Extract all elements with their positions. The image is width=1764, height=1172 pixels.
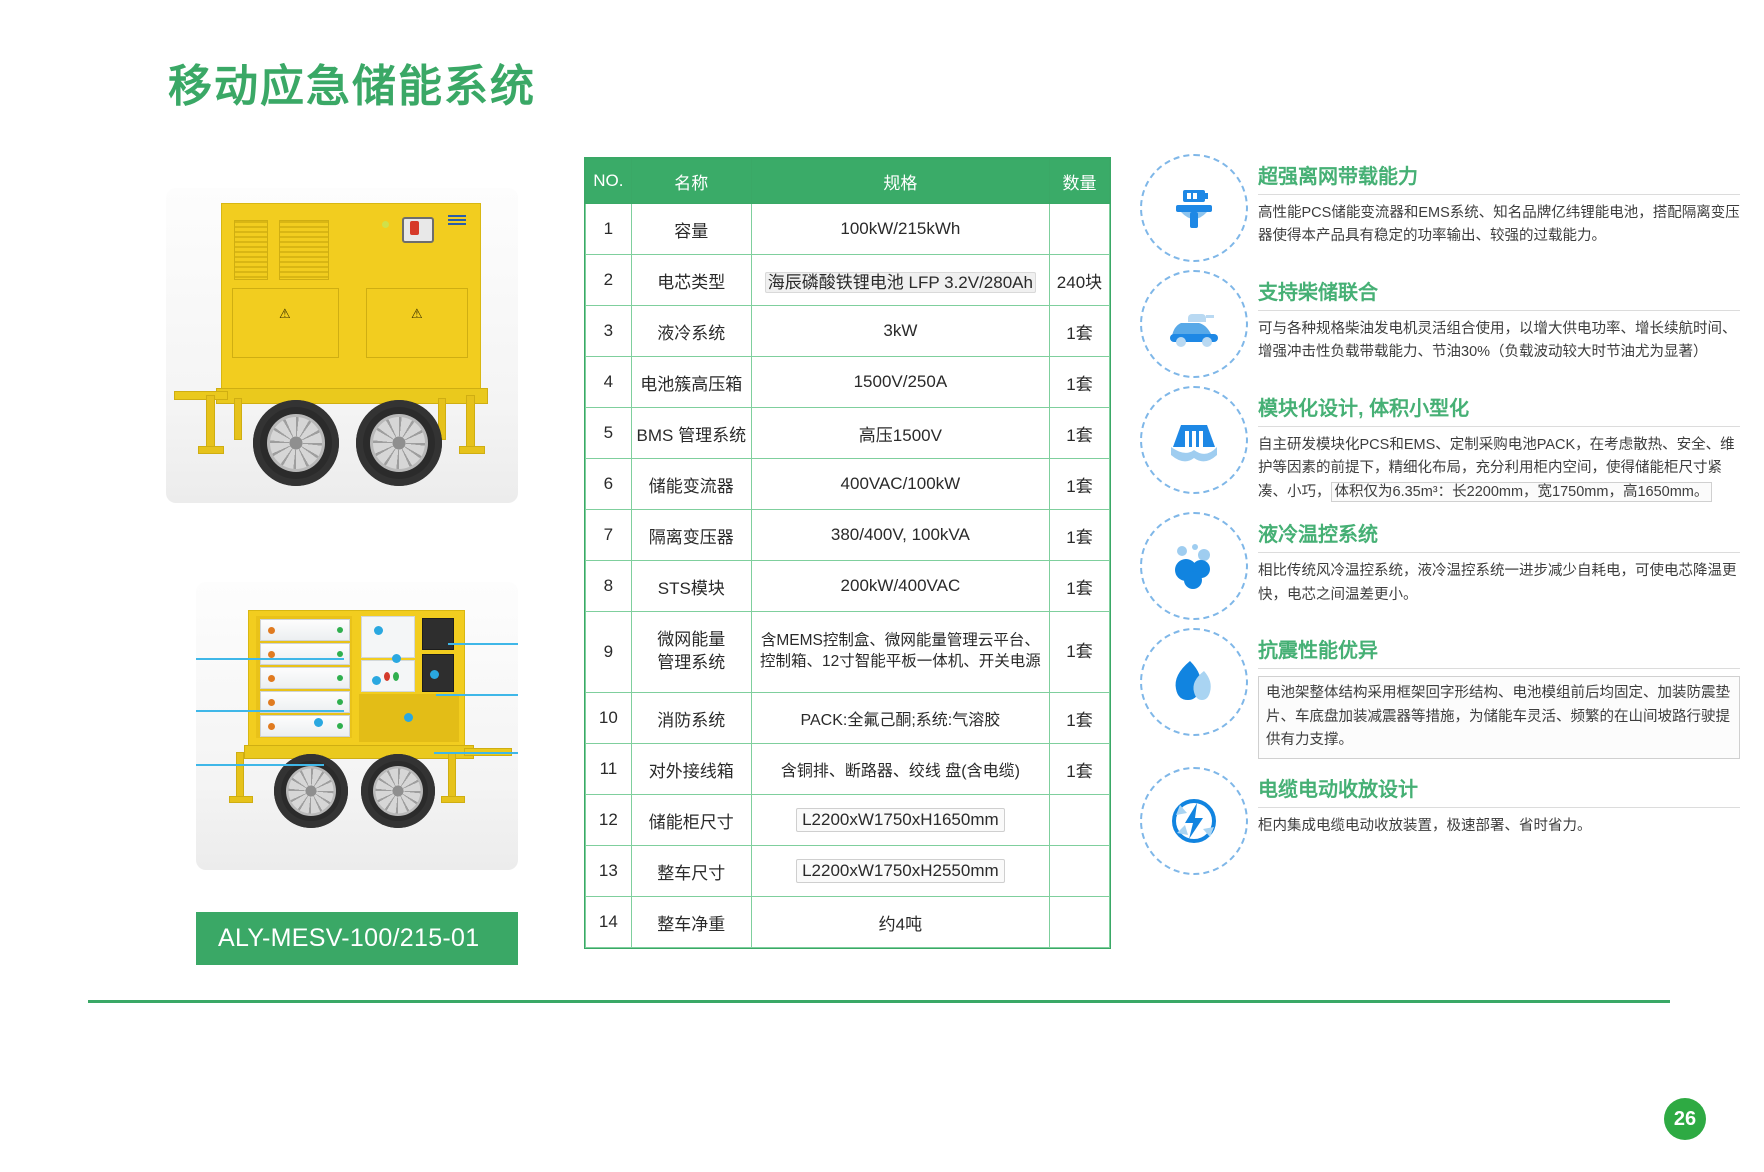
- table-row: 8 STS模块 200kW/400VAC 1套: [586, 561, 1110, 612]
- louver-right: [279, 220, 329, 280]
- table-header-row: NO. 名称 规格 数量: [586, 159, 1110, 204]
- support-leg: [206, 395, 215, 453]
- feature-title: 液冷温控系统: [1258, 518, 1740, 547]
- cell-name: 微网能量 管理系统: [631, 612, 751, 693]
- feature-body: 抗震性能优异 电池架整体结构采用框架回字形结构、电池模组前后均固定、加装防震垫片…: [1248, 626, 1740, 758]
- cell-name: 容量: [631, 204, 751, 255]
- feature-text: 可与各种规格柴油发电机灵活组合使用，以增大供电功率、增长续航时间、增强冲击性负载…: [1258, 318, 1740, 365]
- cell-spec: 高压1500V: [751, 408, 1049, 459]
- indicator-light: [382, 221, 389, 228]
- feature-text-highlight: 体积仅为6.35m³：长2200mm，宽1750mm，高1650mm。: [1331, 482, 1713, 502]
- pcs-cabinet-top: [422, 618, 454, 650]
- feature-text: 相比传统风冷温控系统，液冷温控系统一进步减少自耗电，可使电芯降温更快，电芯之间温…: [1258, 560, 1740, 607]
- cell-qty: 1套: [1049, 561, 1109, 612]
- feature-item-diesel-hybrid: 支持柴储联合 可与各种规格柴油发电机灵活组合使用，以增大供电功率、增长续航时间、…: [1140, 268, 1740, 378]
- cell-no: 14: [586, 897, 632, 948]
- feature-divider: [1258, 310, 1740, 311]
- table-row: 3 液冷系统 3kW 1套: [586, 306, 1110, 357]
- cell-name: 液冷系统: [631, 306, 751, 357]
- louver-left: [234, 220, 268, 280]
- feature-item-offgrid: 超强离网带载能力 高性能PCS储能变流器和EMS系统、知名品牌亿纬锂能电池，搭配…: [1140, 152, 1740, 262]
- wheel: [253, 400, 339, 486]
- callout-line: [196, 658, 344, 660]
- table-row: 11 对外接线箱 含铜排、断路器、绞线 盘(含电缆) 1套: [586, 744, 1110, 795]
- feature-list: 超强离网带载能力 高性能PCS储能变流器和EMS系统、知名品牌亿纬锂能电池，搭配…: [1140, 152, 1740, 881]
- cell-spec: PACK:全氟己酮;系统:气溶胶: [751, 693, 1049, 744]
- column-header-name: 名称: [631, 159, 751, 204]
- table-row: 6 储能变流器 400VAC/100kW 1套: [586, 459, 1110, 510]
- feature-text: 自主研发模块化PCS和EMS、定制采购电池PACK，在考虑散热、安全、维护等因素…: [1258, 434, 1740, 504]
- feature-divider: [1258, 668, 1740, 669]
- tow-bar: [174, 391, 228, 400]
- callout-dot: [372, 676, 381, 685]
- cell-spec: 约4吨: [751, 897, 1049, 948]
- cell-no: 13: [586, 846, 632, 897]
- footer-divider: [88, 1000, 1670, 1003]
- product-photo-open: [196, 582, 518, 870]
- cell-spec: 含MEMS控制盒、微网能量管理云平台、控制箱、12寸智能平板一体机、开关电源: [751, 612, 1049, 693]
- cell-qty: 240块: [1049, 255, 1109, 306]
- cell-spec-text: 海辰磷酸铁锂电池 LFP 3.2V/280Ah: [765, 272, 1036, 293]
- cell-qty: 1套: [1049, 306, 1109, 357]
- callout-dot: [392, 654, 401, 663]
- slide-page: 移动应急储能系统 ⚠ ⚠: [0, 0, 1764, 1172]
- feature-divider: [1258, 194, 1740, 195]
- cell-qty: 1套: [1049, 612, 1109, 693]
- feature-item-shock-resistance: 抗震性能优异 电池架整体结构采用框架回字形结构、电池模组前后均固定、加装防震垫片…: [1140, 626, 1740, 758]
- cable-reel-bolt-icon: [1140, 767, 1248, 875]
- cell-spec-text: L2200xW1750xH2550mm: [796, 859, 1005, 883]
- wheel: [356, 400, 442, 486]
- feature-body: 超强离网带载能力 高性能PCS储能变流器和EMS系统、知名品牌亿纬锂能电池，搭配…: [1248, 152, 1740, 249]
- cell-no: 1: [586, 204, 632, 255]
- page-number-badge: 26: [1664, 1098, 1706, 1140]
- cell-name: 整车尺寸: [631, 846, 751, 897]
- cell-spec: 200kW/400VAC: [751, 561, 1049, 612]
- shock-resistance-leaf-icon: [1140, 628, 1248, 736]
- cell-qty: 1套: [1049, 408, 1109, 459]
- cell-qty: 1套: [1049, 459, 1109, 510]
- cell-name: 储能变流器: [631, 459, 751, 510]
- feature-title: 抗震性能优异: [1258, 634, 1740, 663]
- callout-line: [196, 764, 324, 766]
- cell-no: 8: [586, 561, 632, 612]
- battery-module: [260, 619, 350, 641]
- support-foot: [459, 446, 485, 454]
- cell-spec: L2200xW1750xH2550mm: [751, 846, 1049, 897]
- feature-item-cable-reel: 电缆电动收放设计 柜内集成电缆电动收放装置，极速部署、省时省力。: [1140, 765, 1740, 875]
- table-row: 9 微网能量 管理系统 含MEMS控制盒、微网能量管理云平台、控制箱、12寸智能…: [586, 612, 1110, 693]
- cell-qty: 1套: [1049, 744, 1109, 795]
- cell-no: 6: [586, 459, 632, 510]
- warning-triangle-icon: ⚠: [279, 306, 291, 322]
- table-row: 5 BMS 管理系统 高压1500V 1套: [586, 408, 1110, 459]
- support-leg: [236, 752, 244, 802]
- cell-no: 9: [586, 612, 632, 693]
- cell-qty: 1套: [1049, 693, 1109, 744]
- feature-divider: [1258, 552, 1740, 553]
- feature-item-modular: 模块化设计, 体积小型化 自主研发模块化PCS和EMS、定制采购电池PACK，在…: [1140, 384, 1740, 504]
- cell-name: 电芯类型: [631, 255, 751, 306]
- callout-line: [436, 694, 518, 696]
- cell-no: 7: [586, 510, 632, 561]
- support-leg: [466, 395, 475, 453]
- modular-stack-icon: [1140, 386, 1248, 494]
- callout-dot: [374, 626, 383, 635]
- battery-module: [260, 667, 350, 689]
- door-right: [366, 288, 468, 358]
- cell-spec: 含铜排、断路器、绞线 盘(含电缆): [751, 744, 1049, 795]
- feature-title: 超强离网带载能力: [1258, 160, 1740, 189]
- cell-no: 11: [586, 744, 632, 795]
- emergency-stop-button: [410, 221, 419, 235]
- feature-body: 电缆电动收放设计 柜内集成电缆电动收放装置，极速部署、省时省力。: [1248, 765, 1740, 838]
- support-leg: [234, 398, 242, 440]
- cell-name: STS模块: [631, 561, 751, 612]
- chassis-rail: [216, 388, 488, 404]
- cell-spec: 380/400V, 100kVA: [751, 510, 1049, 561]
- table-row: 10 消防系统 PACK:全氟己酮;系统:气溶胶 1套: [586, 693, 1110, 744]
- product-code-badge: ALY-MESV-100/215-01: [196, 912, 518, 965]
- brand-logo: [448, 215, 466, 225]
- callout-dot: [430, 670, 439, 679]
- callout-line: [448, 643, 518, 645]
- battery-load-icon: [1140, 154, 1248, 262]
- wheel: [361, 754, 435, 828]
- feature-title: 支持柴储联合: [1258, 276, 1740, 305]
- cell-name: 对外接线箱: [631, 744, 751, 795]
- callout-line: [434, 752, 518, 754]
- feature-title: 模块化设计, 体积小型化: [1258, 392, 1740, 421]
- table-row: 2 电芯类型 海辰磷酸铁锂电池 LFP 3.2V/280Ah 240块: [586, 255, 1110, 306]
- table-row: 14 整车净重 约4吨: [586, 897, 1110, 948]
- table-row: 7 隔离变压器 380/400V, 100kVA 1套: [586, 510, 1110, 561]
- table-row: 12 储能柜尺寸 L2200xW1750xH1650mm: [586, 795, 1110, 846]
- cell-name: 储能柜尺寸: [631, 795, 751, 846]
- feature-body: 液冷温控系统 相比传统风冷温控系统，液冷温控系统一进步减少自耗电，可使电芯降温更…: [1248, 510, 1740, 607]
- ev-charge-car-icon: [1140, 270, 1248, 378]
- cell-no: 2: [586, 255, 632, 306]
- callout-dot: [314, 718, 323, 727]
- feature-body: 支持柴储联合 可与各种规格柴油发电机灵活组合使用，以增大供电功率、增长续航时间、…: [1248, 268, 1740, 365]
- feature-text: 高性能PCS储能变流器和EMS系统、知名品牌亿纬锂能电池，搭配隔离变压器使得本产…: [1258, 202, 1740, 249]
- cell-no: 3: [586, 306, 632, 357]
- column-header-no: NO.: [586, 159, 632, 204]
- cell-name: 消防系统: [631, 693, 751, 744]
- cell-qty: [1049, 846, 1109, 897]
- cell-name: 隔离变压器: [631, 510, 751, 561]
- cell-spec: 100kW/215kWh: [751, 204, 1049, 255]
- feature-item-liquid-cooling: 液冷温控系统 相比传统风冷温控系统，液冷温控系统一进步减少自耗电，可使电芯降温更…: [1140, 510, 1740, 620]
- table-row: 13 整车尺寸 L2200xW1750xH2550mm: [586, 846, 1110, 897]
- feature-divider: [1258, 807, 1740, 808]
- support-leg: [448, 752, 456, 802]
- cell-qty: 1套: [1049, 357, 1109, 408]
- cell-name: 整车净重: [631, 897, 751, 948]
- feature-body: 模块化设计, 体积小型化 自主研发模块化PCS和EMS、定制采购电池PACK，在…: [1248, 384, 1740, 504]
- cell-spec: 1500V/250A: [751, 357, 1049, 408]
- cell-name: BMS 管理系统: [631, 408, 751, 459]
- cell-spec: 海辰磷酸铁锂电池 LFP 3.2V/280Ah: [751, 255, 1049, 306]
- control-panel-upper: [361, 616, 415, 658]
- feature-divider: [1258, 426, 1740, 427]
- feature-text: 柜内集成电缆电动收放装置，极速部署、省时省力。: [1258, 815, 1740, 838]
- door-left: [232, 288, 339, 358]
- table-row: 1 容量 100kW/215kWh: [586, 204, 1110, 255]
- cell-spec-text: L2200xW1750xH1650mm: [796, 808, 1005, 832]
- column-header-qty: 数量: [1049, 159, 1109, 204]
- column-header-spec: 规格: [751, 159, 1049, 204]
- cell-no: 5: [586, 408, 632, 459]
- page-title: 移动应急储能系统: [168, 50, 536, 114]
- cell-no: 12: [586, 795, 632, 846]
- table-row: 4 电池簇高压箱 1500V/250A 1套: [586, 357, 1110, 408]
- cell-no: 10: [586, 693, 632, 744]
- support-foot: [441, 796, 465, 803]
- cell-spec: L2200xW1750xH1650mm: [751, 795, 1049, 846]
- liquid-cooling-droplets-icon: [1140, 512, 1248, 620]
- support-foot: [229, 796, 253, 803]
- callout-dot: [404, 713, 413, 722]
- cell-name: 电池簇高压箱: [631, 357, 751, 408]
- cell-spec: 400VAC/100kW: [751, 459, 1049, 510]
- cell-qty: [1049, 204, 1109, 255]
- callout-line: [196, 710, 344, 712]
- battery-module: [260, 715, 350, 737]
- cell-qty: [1049, 897, 1109, 948]
- control-panel-lower: [361, 660, 415, 692]
- feature-text: 电池架整体结构采用框架回字形结构、电池模组前后均固定、加装防震垫片、车底盘加装减…: [1258, 676, 1740, 758]
- product-photo-closed: ⚠ ⚠: [166, 188, 518, 503]
- cell-spec: 3kW: [751, 306, 1049, 357]
- warning-triangle-icon: ⚠: [411, 306, 423, 322]
- cell-qty: [1049, 795, 1109, 846]
- cell-no: 4: [586, 357, 632, 408]
- battery-module: [260, 643, 350, 665]
- support-foot: [198, 446, 224, 454]
- specification-table: NO. 名称 规格 数量 1 容量 100kW/215kWh 2 电芯类型 海辰…: [585, 158, 1110, 948]
- cell-qty: 1套: [1049, 510, 1109, 561]
- feature-title: 电缆电动收放设计: [1258, 773, 1740, 802]
